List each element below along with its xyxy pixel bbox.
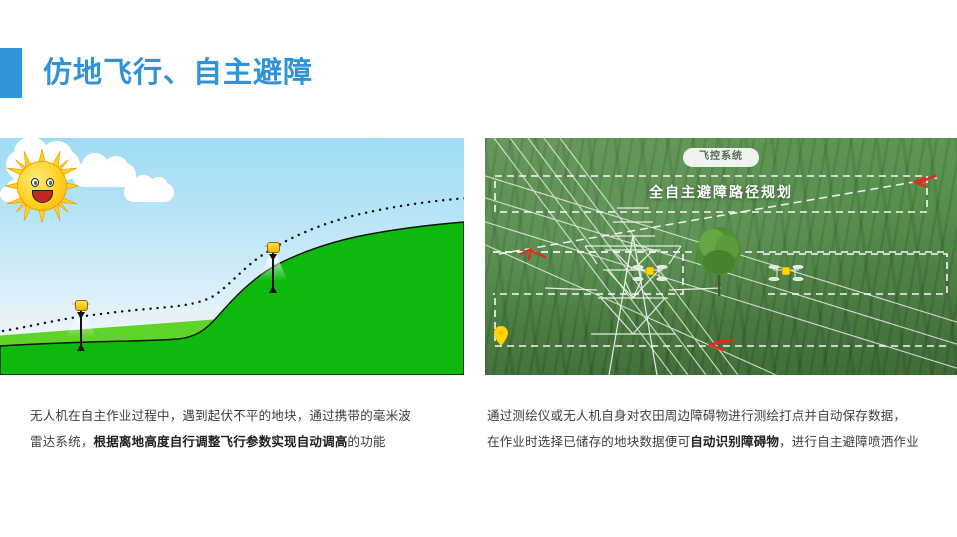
panel-obstacle-avoidance: 飞控系统 全自主避障路径规划 bbox=[485, 138, 957, 375]
drone-icon bbox=[58, 297, 104, 315]
slide-header: 仿地飞行、自主避障 bbox=[0, 48, 313, 98]
power-tower-icon bbox=[545, 208, 721, 375]
drone-icon bbox=[250, 239, 296, 257]
title-accent-bar bbox=[0, 48, 22, 98]
terrain-following-illustration bbox=[0, 138, 464, 375]
turn-arrow-icon bbox=[521, 249, 545, 259]
panel-terrain-following bbox=[0, 138, 464, 375]
caption-right: 通过测绘仪或无人机自身对农田周边障碍物进行测绘打点并自动保存数据， 在作业时选择… bbox=[487, 404, 949, 455]
caption-left-line1: 无人机在自主作业过程中，遇到起伏不平的地块，通过携带的毫米波 bbox=[30, 409, 411, 423]
caption-right-line2-prefix: 在作业时选择已储存的地块数据便可 bbox=[487, 435, 690, 449]
caption-left-line2-bold: 根据离地高度自行调整飞行参数实现自动调高 bbox=[94, 435, 348, 449]
flight-control-badge: 飞控系统 bbox=[683, 148, 759, 167]
caption-left-line2-suffix: 的功能 bbox=[348, 435, 386, 449]
map-pin-icon bbox=[494, 326, 508, 346]
flight-path-dotted-line bbox=[0, 138, 464, 375]
field-overlay-graphics bbox=[485, 138, 957, 375]
overlay-heading: 全自主避障路径规划 bbox=[649, 182, 793, 202]
turn-arrow-icon bbox=[711, 340, 733, 350]
caption-right-line1: 通过测绘仪或无人机自身对农田周边障碍物进行测绘打点并自动保存数据， bbox=[487, 409, 906, 423]
drone-tank-icon bbox=[267, 242, 280, 253]
tree-obstacle-icon bbox=[697, 227, 741, 296]
caption-left: 无人机在自主作业过程中，遇到起伏不平的地块，通过携带的毫米波 雷达系统，根据离地… bbox=[30, 404, 450, 455]
height-arrow-up-icon bbox=[77, 344, 85, 351]
caption-left-line2-prefix: 雷达系统， bbox=[30, 435, 94, 449]
turn-arrow-icon bbox=[915, 176, 935, 186]
height-arrow-up-icon bbox=[269, 286, 277, 293]
drone-tank-icon bbox=[75, 300, 88, 311]
obstacle-avoidance-photo: 飞控系统 全自主避障路径规划 bbox=[485, 138, 957, 375]
page-title: 仿地飞行、自主避障 bbox=[43, 59, 313, 88]
caption-right-line2-suffix: ，进行自主避障喷洒作业 bbox=[779, 435, 919, 449]
caption-right-line2-bold: 自动识别障碍物 bbox=[690, 435, 779, 449]
